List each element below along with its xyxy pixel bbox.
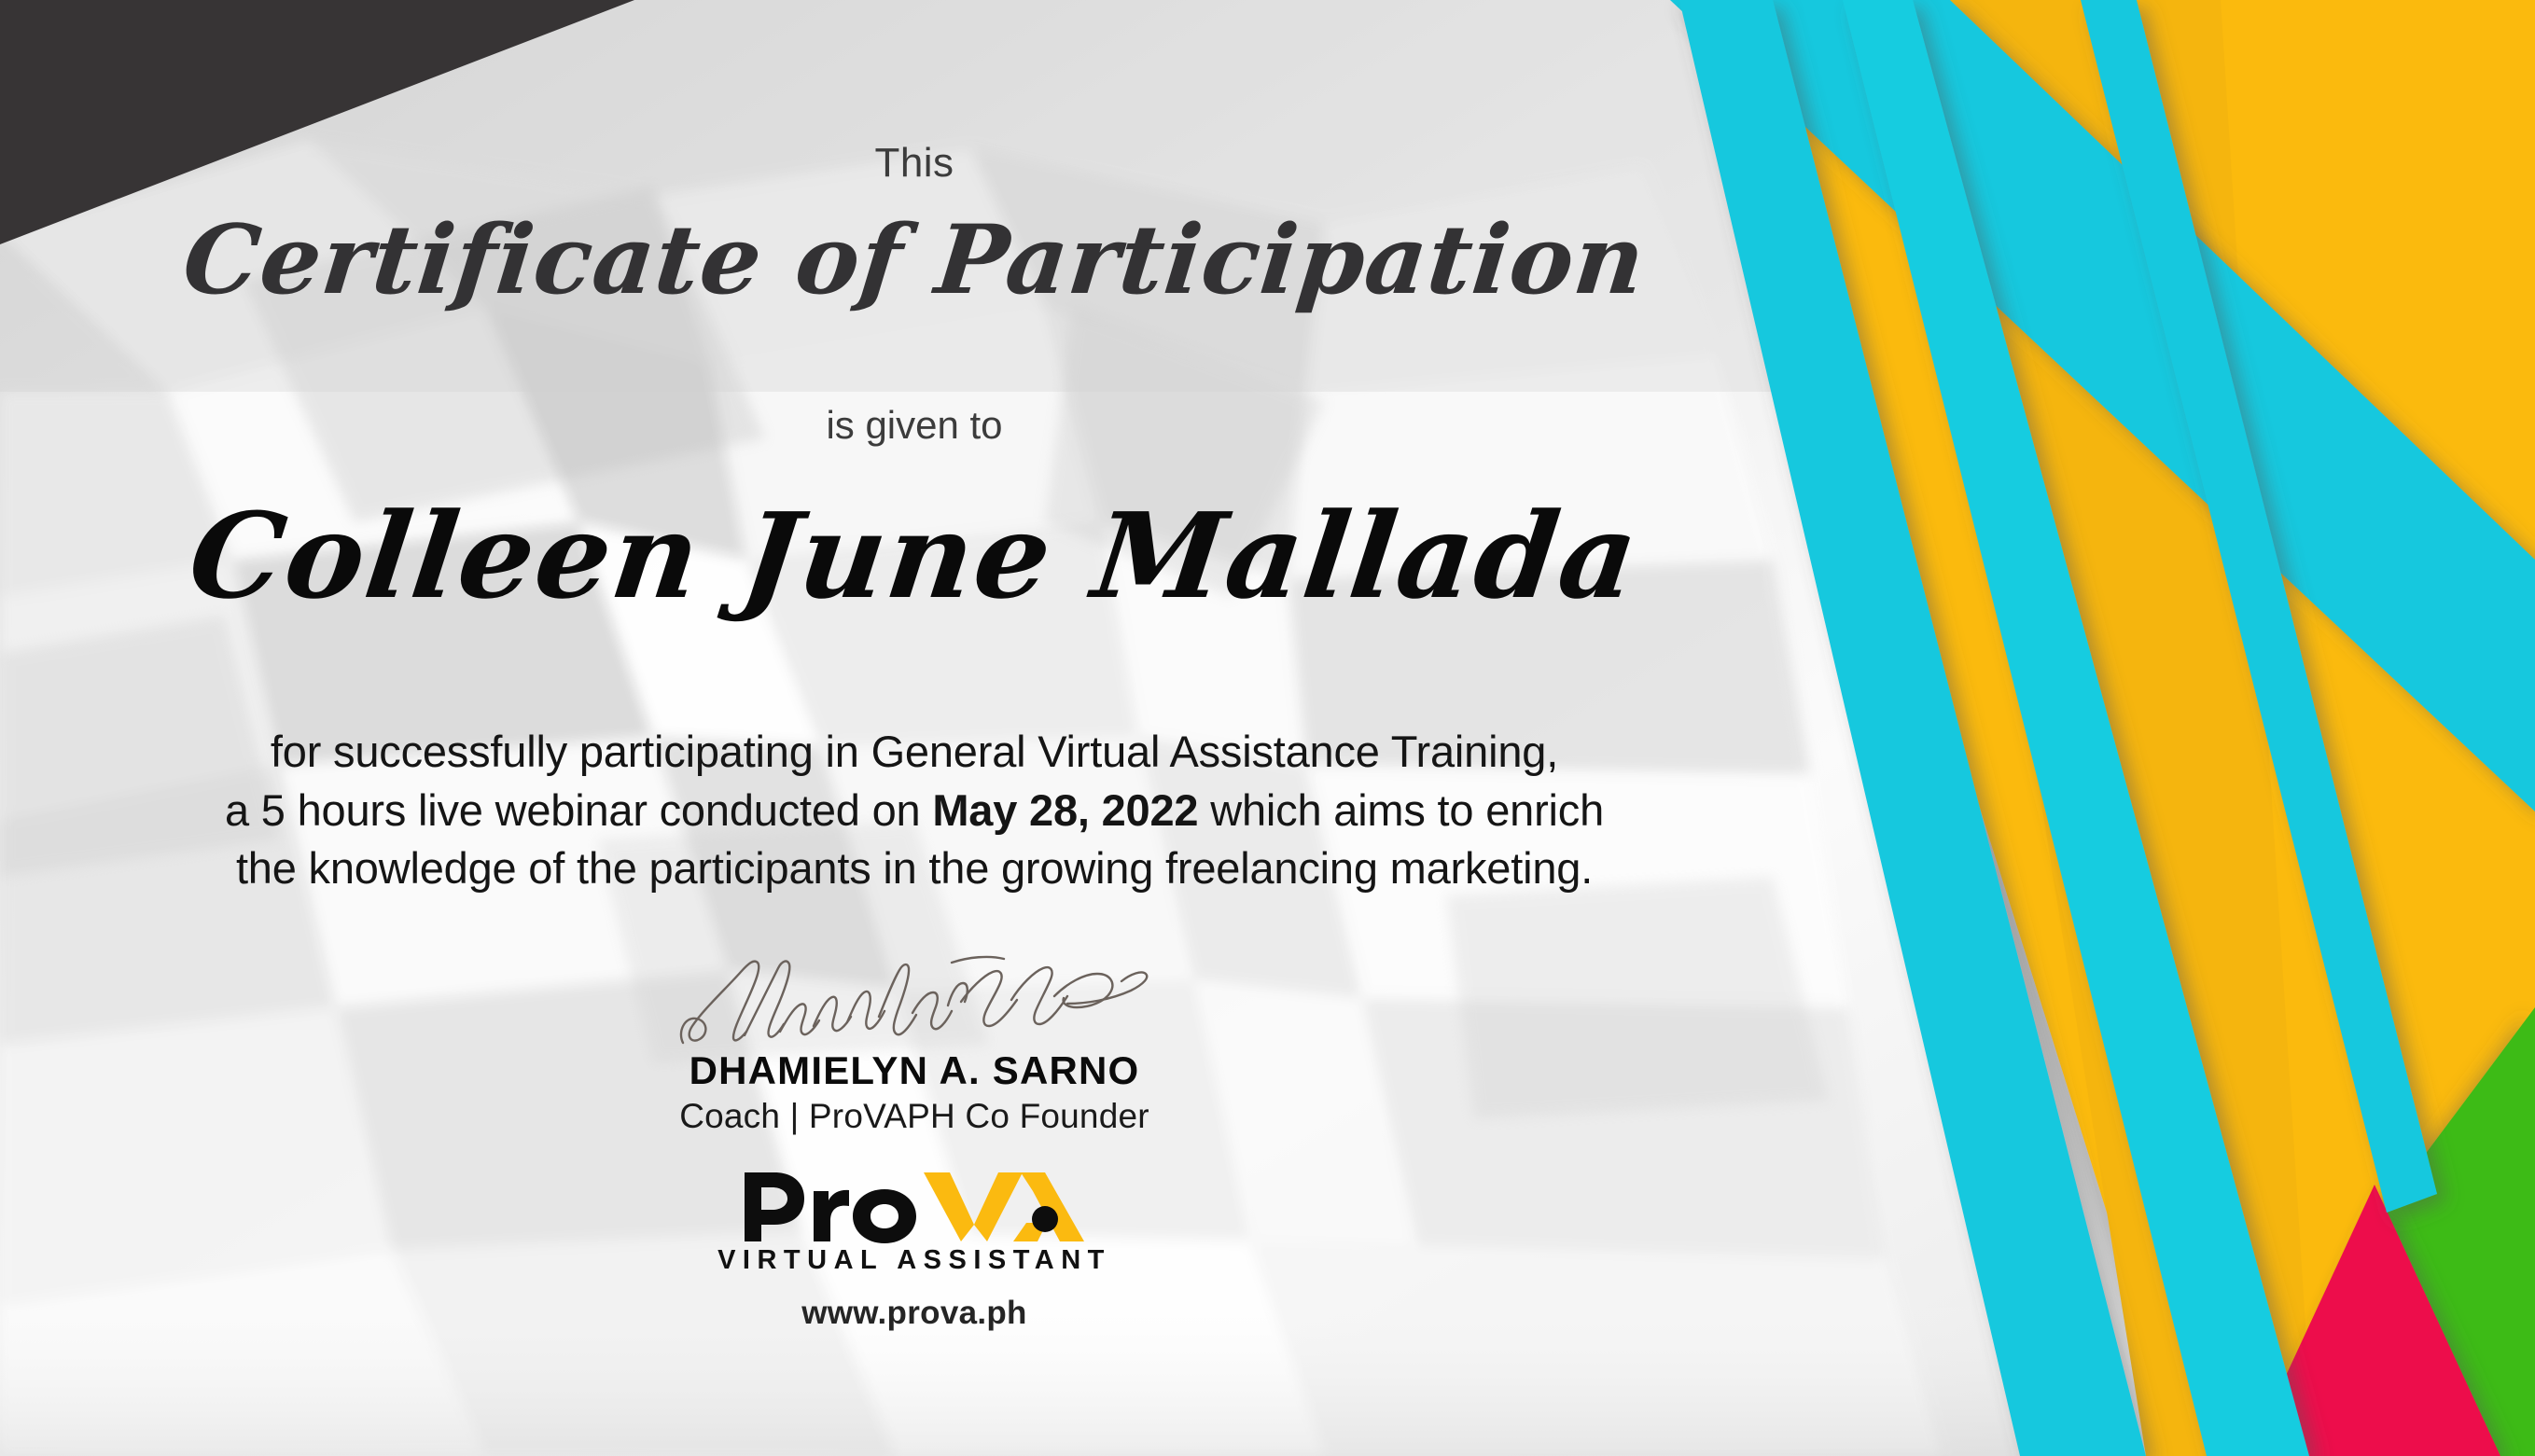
body-line-2: a 5 hours live webinar conducted on May … bbox=[37, 782, 1791, 840]
certificate-canvas: This Certificate of Participation is giv… bbox=[0, 0, 2535, 1456]
signature-block: DHAMIELYN A. SARNO Coach | ProVAPH Co Fo… bbox=[0, 951, 1829, 1136]
certificate-content: This Certificate of Participation is giv… bbox=[0, 0, 1829, 1456]
body-line-2-suffix: which aims to enrich bbox=[1198, 785, 1604, 835]
brand-logo-block: VIRTUAL ASSISTANT www.prova.ph bbox=[0, 1171, 1829, 1332]
webinar-date: May 28, 2022 bbox=[932, 785, 1198, 835]
certificate-body: for successfully participating in Genera… bbox=[37, 723, 1791, 898]
intro-word: This bbox=[0, 140, 1829, 187]
logo-tagline: VIRTUAL ASSISTANT bbox=[0, 1245, 1829, 1276]
signer-name: DHAMIELYN A. SARNO bbox=[0, 1048, 1829, 1093]
website-url: www.prova.ph bbox=[0, 1295, 1829, 1332]
recipient-name: Colleen June Mallada bbox=[0, 494, 1836, 617]
page-title: Certificate of Participation bbox=[0, 211, 1834, 311]
prova-logo-icon bbox=[737, 1171, 1092, 1243]
handwritten-signature-icon bbox=[672, 951, 1157, 1054]
body-line-2-prefix: a 5 hours live webinar conducted on bbox=[225, 785, 932, 835]
body-line-3: the knowledge of the participants in the… bbox=[37, 839, 1791, 898]
body-line-1: for successfully participating in Genera… bbox=[37, 723, 1791, 782]
given-to-label: is given to bbox=[0, 403, 1829, 448]
logo-dot bbox=[1032, 1206, 1058, 1232]
signer-role: Coach | ProVAPH Co Founder bbox=[0, 1097, 1829, 1136]
